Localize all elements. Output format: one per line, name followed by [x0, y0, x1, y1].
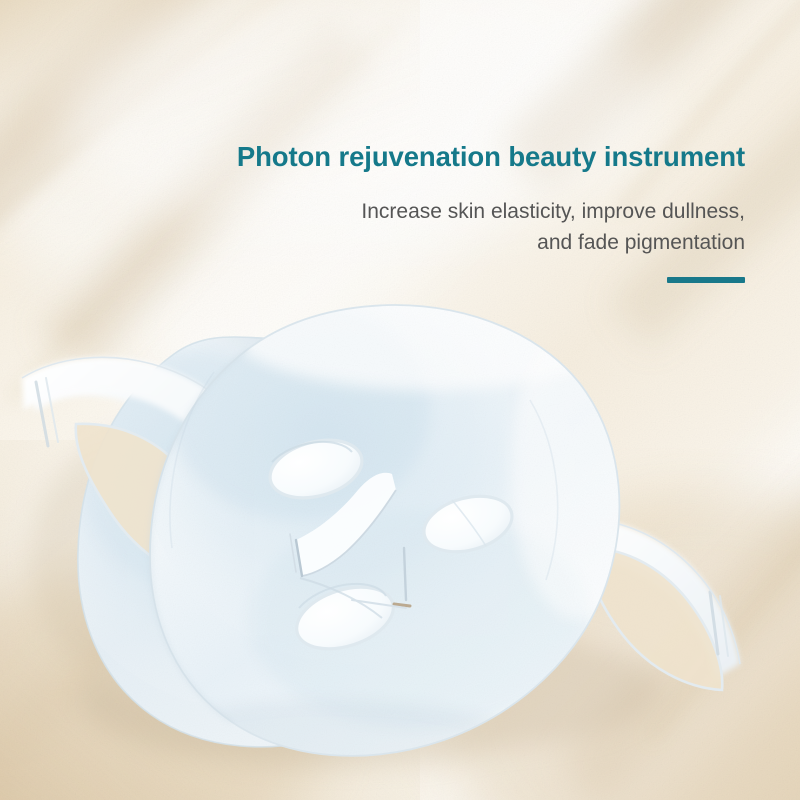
- marketing-copy: Photon rejuvenation beauty instrument In…: [0, 140, 800, 288]
- headline: Photon rejuvenation beauty instrument: [55, 140, 745, 174]
- subtitle-line-1: Increase skin elasticity, improve dullne…: [55, 196, 745, 227]
- product-banner: Photon rejuvenation beauty instrument In…: [0, 0, 800, 800]
- product-photo: [0, 0, 800, 800]
- subtitle-line-2: and fade pigmentation: [55, 227, 745, 258]
- accent-rule: [667, 277, 745, 283]
